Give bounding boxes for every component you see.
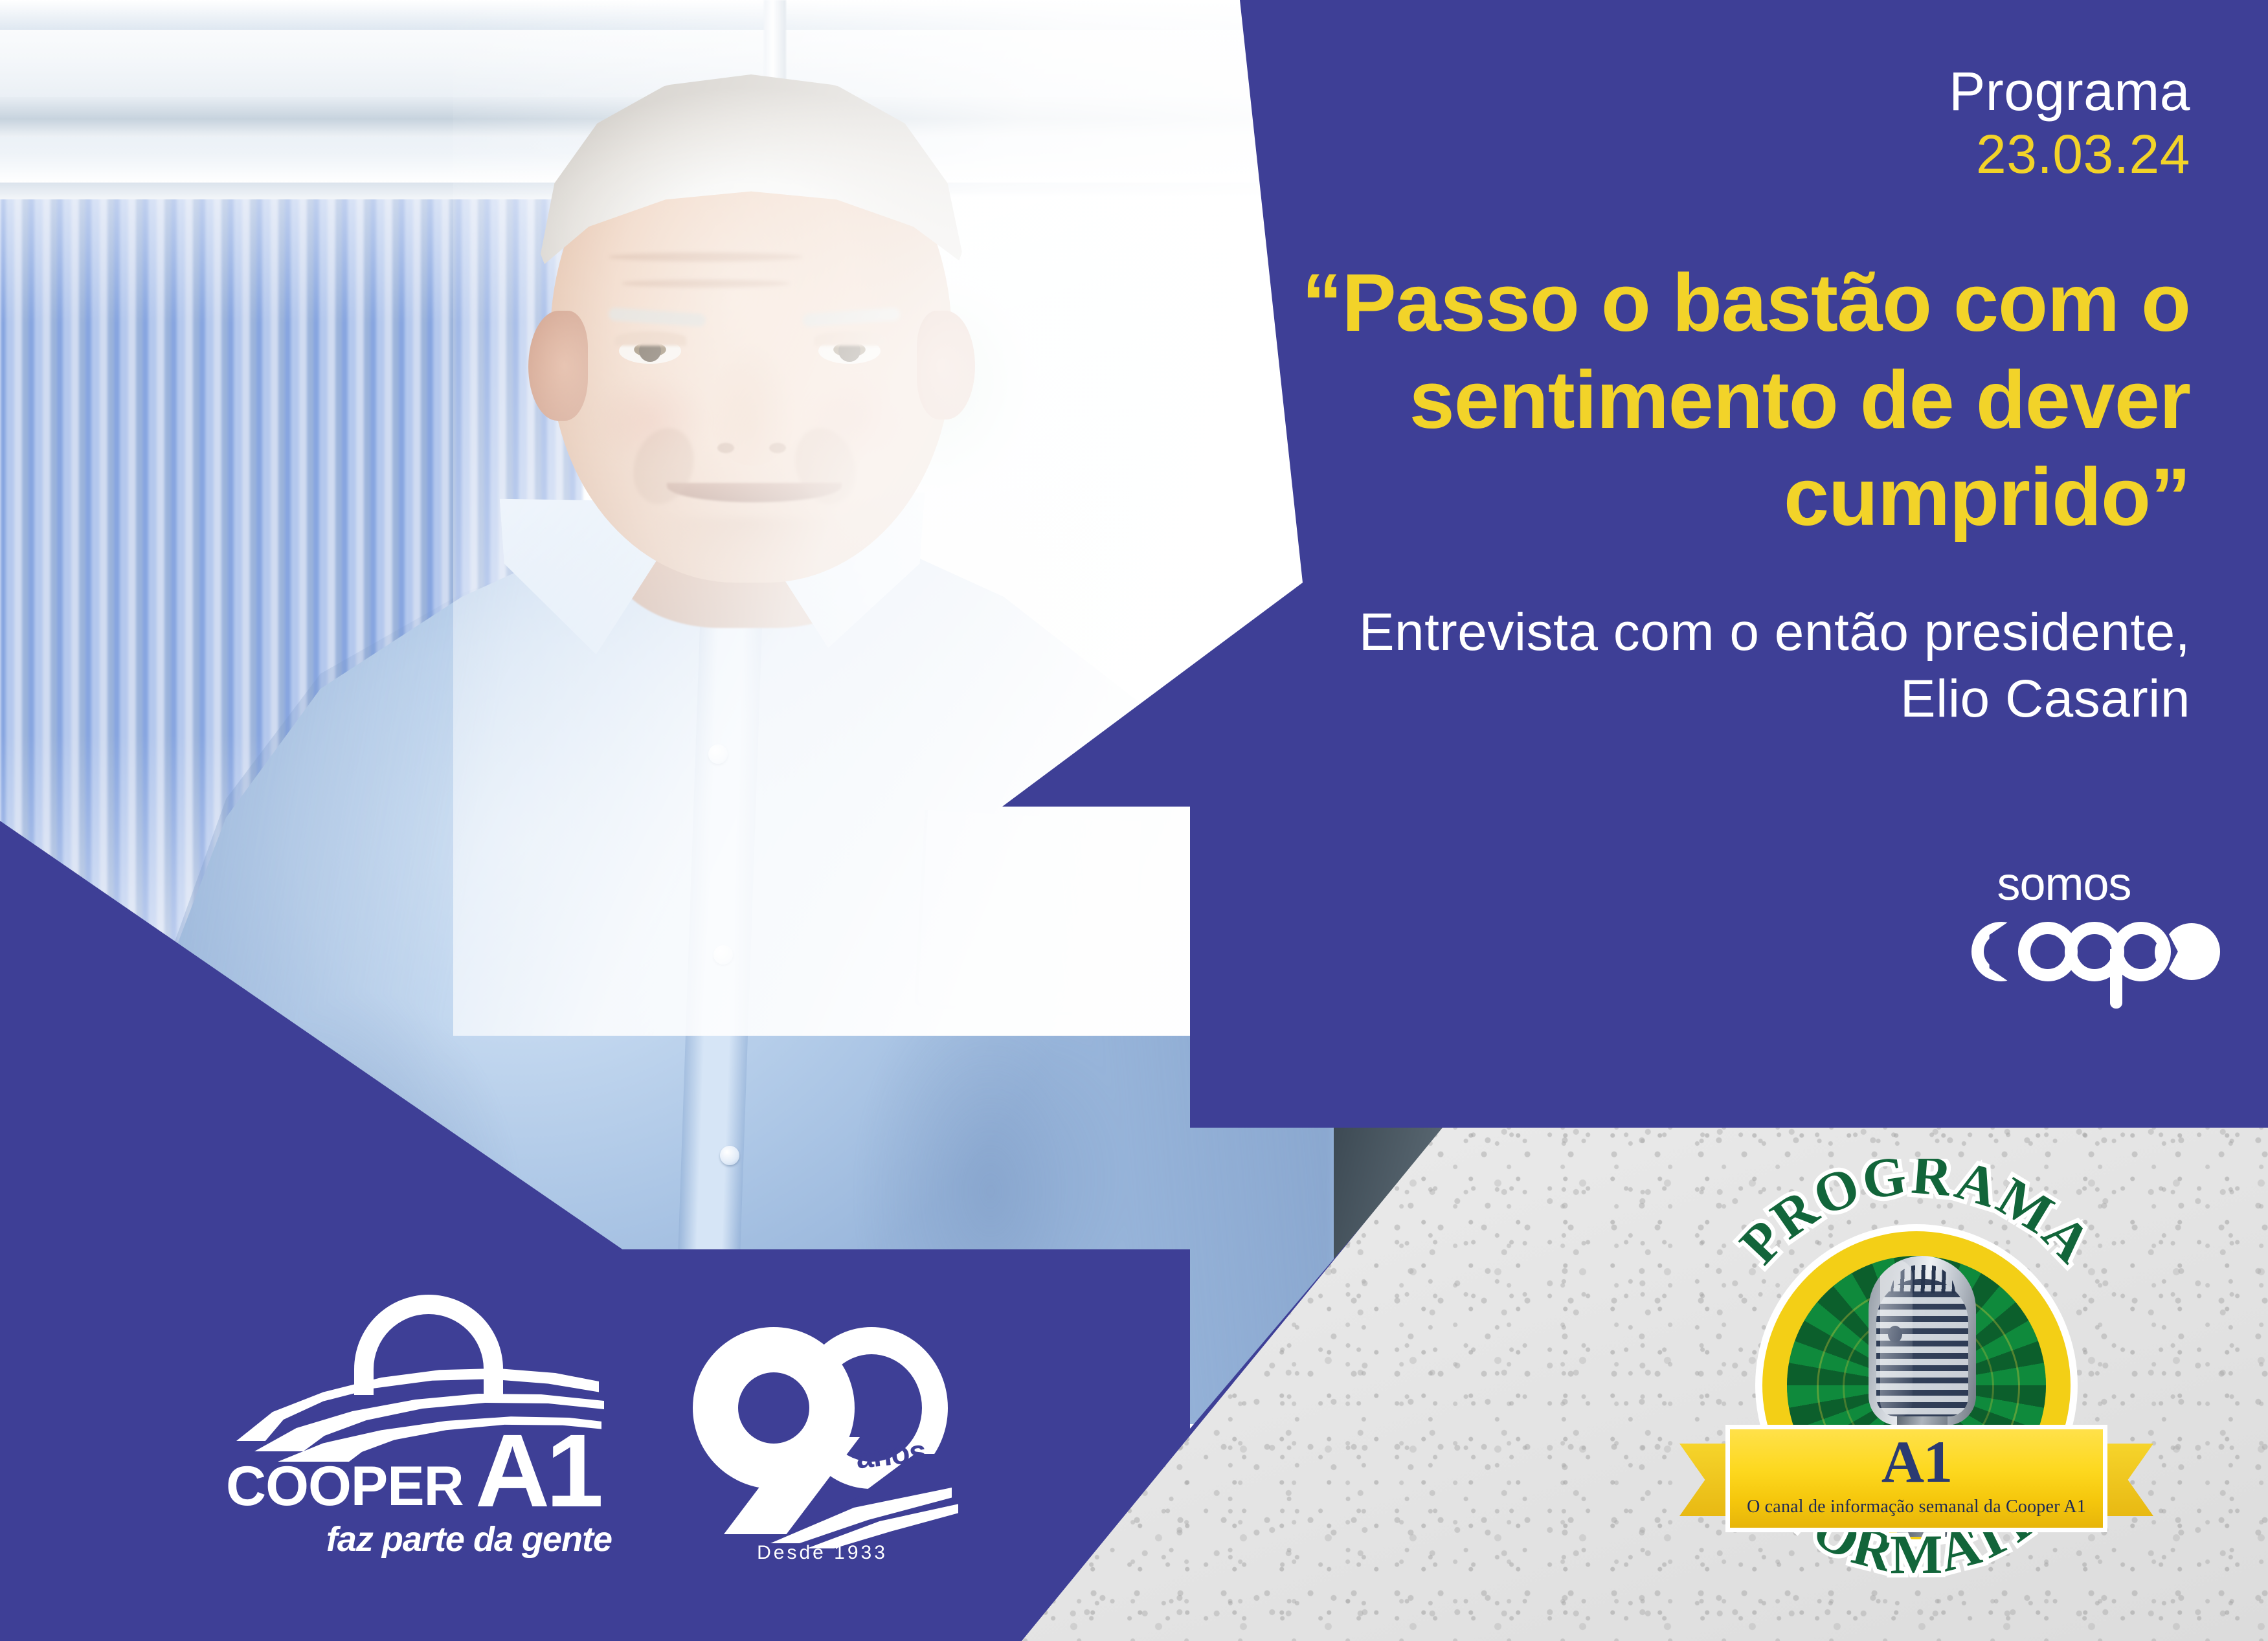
anos-label: anos — [854, 1434, 927, 1477]
arch-road-icon — [236, 1295, 599, 1431]
episode-date: 23.03.24 — [1271, 121, 2190, 187]
subheadline-line-2: Elio Casarin — [1271, 665, 2190, 732]
badge-ribbon: A1 O canal de informação semanal da Coop… — [1679, 1425, 2153, 1534]
ribbon-title: A1 — [1730, 1432, 2103, 1491]
headline-block: Programa 23.03.24 “Passo o bastão com o … — [1271, 62, 2190, 733]
somos-coop-mark — [1971, 911, 2192, 983]
somos-coop-logo: somos — [1971, 861, 2192, 984]
quote-headline: “Passo o bastão com o sentimento de deve… — [1271, 254, 2190, 546]
cooper-a1-logo: COOPER A1 faz parte da gente — [223, 1295, 625, 1541]
kicker-label: Programa — [1271, 62, 2190, 121]
badge-arched-text: PROGRAMA INFORMATIVO — [1690, 1159, 2143, 1612]
poster-canvas: Programa 23.03.24 “Passo o bastão com o … — [0, 0, 2268, 1641]
cooper-tagline: faz parte da gente — [223, 1519, 612, 1559]
ninety-years-logo: anos Desde 1933 — [686, 1301, 958, 1560]
digit-nine-counter-inner — [741, 1375, 807, 1441]
programa-informativo-badge: PROGRAMA INFORMATIVO A1 O canal de infor… — [1690, 1159, 2143, 1612]
since-label: Desde 1933 — [686, 1542, 958, 1564]
coop-letter-p-stem — [2110, 949, 2122, 1009]
cooper-word: COOPER — [226, 1460, 464, 1513]
subheadline-line-1: Entrevista com o então presidente, — [1271, 599, 2190, 665]
cooper-a1-word: A1 — [475, 1428, 600, 1513]
ribbon-subtitle: O canal de informação semanal da Cooper … — [1730, 1497, 2103, 1517]
somos-coop-word-somos: somos — [1971, 861, 2157, 908]
shirt-button — [720, 1146, 739, 1165]
chevron-right-icon — [2163, 923, 2220, 980]
ribbon-body: A1 O canal de informação semanal da Coop… — [1730, 1429, 2103, 1528]
badge-arc-top-text: PROGRAMA — [1727, 1159, 2104, 1275]
